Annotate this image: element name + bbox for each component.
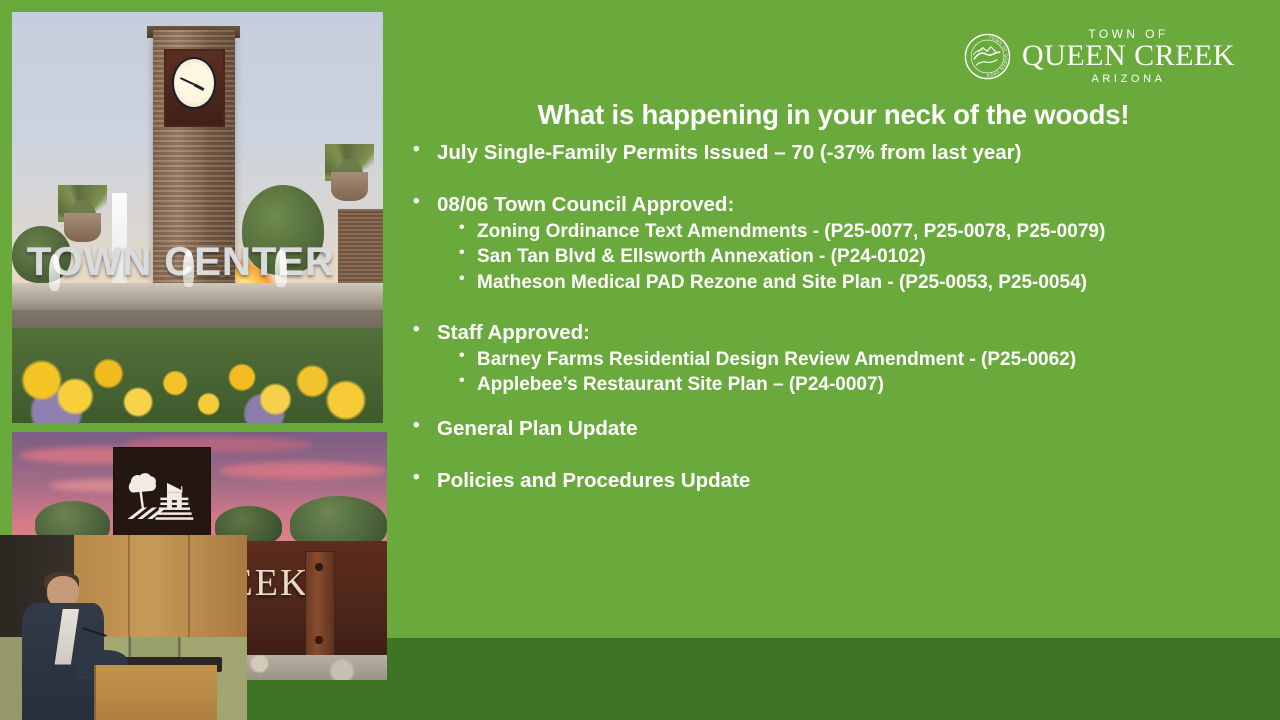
fountain-jet: [183, 250, 194, 287]
town-center-clock-tower-photo: TOWN CENTER: [12, 12, 383, 423]
clock-minute-hand: [179, 76, 194, 85]
barn-and-tree-emblem-sign: [113, 447, 211, 546]
logo-line-arizona: ARIZONA: [1091, 74, 1165, 85]
logo-wordmark: TOWN OF QUEEN CREEK ARIZONA: [1022, 28, 1235, 85]
fountain-basin: [12, 283, 383, 312]
clock-hour-hand: [193, 83, 204, 91]
photo-column: TOWN CENTER: [0, 0, 387, 720]
logo-line-queen-creek: QUEEN CREEK: [1022, 41, 1235, 71]
sub-bullet-barney-farms: Barney Farms Residential Design Review A…: [387, 348, 1280, 372]
cloud: [218, 462, 387, 479]
spacer: [387, 399, 1280, 416]
bullet-general-plan-update: General Plan Update: [387, 416, 1280, 441]
bullet-town-council-approved: 08/06 Town Council Approved:: [387, 192, 1280, 217]
spacer: [387, 182, 1280, 192]
bullet-permits: July Single-Family Permits Issued – 70 (…: [387, 140, 1280, 165]
slide-content: TOWN OF QUEEN CREEK TOWN OF QUEEN CREEK …: [387, 0, 1280, 638]
sub-bullet-san-tan-annexation: San Tan Blvd & Ellsworth Annexation - (P…: [387, 245, 1280, 269]
slide-title: What is happening in your neck of the wo…: [387, 99, 1280, 131]
podium: [94, 665, 218, 720]
clock-face: [172, 57, 217, 108]
fountain-jet: [275, 250, 286, 287]
rusted-steel-post: [305, 551, 335, 660]
spacer: [387, 296, 1280, 320]
speaker-head: [47, 576, 79, 607]
sub-bullet-matheson-medical: Matheson Medical PAD Rezone and Site Pla…: [387, 271, 1280, 295]
bullet-policies-procedures-update: Policies and Procedures Update: [387, 468, 1280, 493]
bullet-staff-approved: Staff Approved:: [387, 320, 1280, 345]
sub-bullet-zoning-ordinance: Zoning Ordinance Text Amendments - (P25-…: [387, 220, 1280, 244]
slide-bullet-list: July Single-Family Permits Issued – 70 (…: [387, 140, 1280, 510]
spacer: [387, 458, 1280, 468]
marigold-flower-bed: [12, 328, 383, 423]
fountain-jet: [49, 254, 60, 291]
town-of-queen-creek-logo: TOWN OF QUEEN CREEK TOWN OF QUEEN CREEK …: [964, 28, 1235, 85]
sub-bullet-applebees: Applebee’s Restaurant Site Plan – (P24-0…: [387, 373, 1280, 397]
live-speaker-video-feed: [0, 535, 247, 720]
barn-field-tree-icon: [121, 455, 203, 539]
planter-pot: [331, 172, 368, 201]
queen-creek-town-seal-icon: TOWN OF QUEEN CREEK: [964, 33, 1011, 80]
